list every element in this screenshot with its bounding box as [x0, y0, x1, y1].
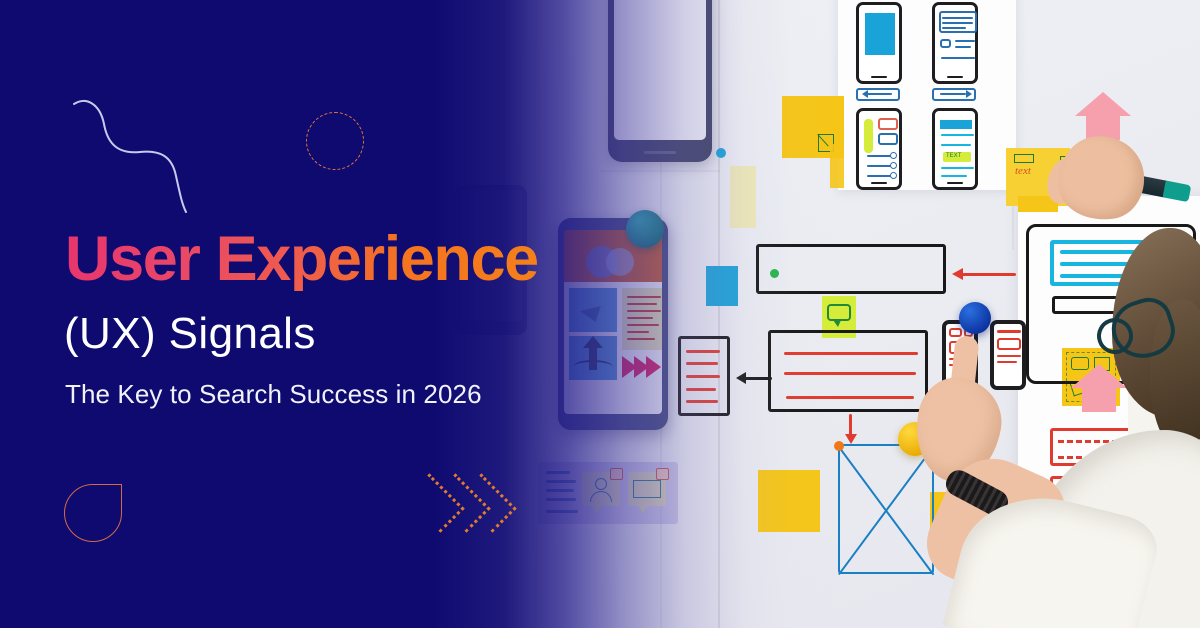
page-subtitle: (UX) Signals: [64, 312, 316, 356]
page-title: User Experience: [65, 228, 538, 291]
page-tagline: The Key to Search Success in 2026: [65, 381, 482, 407]
headline-content: User Experience (UX) Signals The Key to …: [0, 0, 1200, 628]
ux-signals-banner: TEXT text: [0, 0, 1200, 628]
